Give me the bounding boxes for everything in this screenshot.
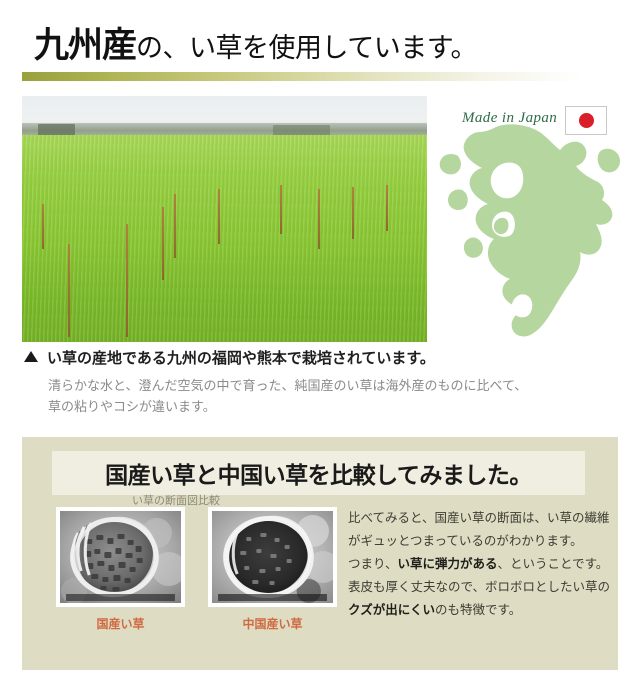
comparison-line-3: つまり、い草に弾力がある、ということです。 bbox=[348, 553, 610, 576]
field-pole bbox=[386, 185, 388, 232]
caption-heading-text: い草の産地である九州の福岡や熊本で栽培されています。 bbox=[47, 348, 435, 370]
micrograph-caption-chinese: 中国産い草 bbox=[208, 615, 337, 632]
made-in-japan-label: Made in Japan bbox=[462, 110, 557, 127]
page-title-rest: の、い草を使用しています。 bbox=[136, 33, 477, 63]
field-pole bbox=[174, 194, 176, 258]
cross-section-label: い草の断面図比較 bbox=[132, 492, 220, 508]
comparison-line-2: がギュッとつまっているのがわかります。 bbox=[348, 530, 610, 553]
comparison-line-1: 比べてみると、国産い草の断面は、い草の繊維 bbox=[348, 507, 610, 530]
field-pole bbox=[162, 207, 164, 281]
micrograph-domestic-image bbox=[60, 511, 181, 603]
japan-flag-icon bbox=[565, 106, 607, 135]
field-pole bbox=[42, 204, 44, 248]
igusa-field-photo bbox=[22, 96, 427, 342]
comparison-title: 国産い草と中国い草を比較してみました。 bbox=[52, 456, 585, 490]
page-title-emphasis: 九州産 bbox=[34, 26, 136, 65]
caption-heading-row: い草の産地である九州の福岡や熊本で栽培されています。 bbox=[24, 348, 544, 370]
comparison-title-band: 国産い草と中国い草を比較してみました。 bbox=[52, 451, 585, 495]
caption-body: 清らかな水と、澄んだ空気の中で育った、純国産のい草は海外産のものに比べて、 草の… bbox=[48, 375, 544, 417]
title-underline-bar bbox=[22, 72, 618, 81]
photo-grass-field bbox=[22, 135, 427, 342]
caption-body-line-2: 草の粘りやコシが違います。 bbox=[48, 396, 544, 417]
comparison-line-4: 表皮も厚く丈夫なので、ボロボロとしたい草の bbox=[348, 576, 610, 599]
kyushu-map-graphic bbox=[432, 120, 632, 350]
micrograph-chinese bbox=[208, 507, 337, 607]
page-title: 九州産の、い草を使用しています。 bbox=[34, 26, 477, 68]
field-pole bbox=[352, 187, 354, 239]
comparison-line-5: クズが出にくいのも特徴です。 bbox=[348, 599, 610, 622]
field-caption-block: い草の産地である九州の福岡や熊本で栽培されています。 清らかな水と、澄んだ空気の… bbox=[24, 348, 544, 417]
micrograph-domestic bbox=[56, 507, 185, 607]
flag-red-disc bbox=[579, 113, 594, 128]
comparison-description: 比べてみると、国産い草の断面は、い草の繊維 がギュッとつまっているのがわかります… bbox=[348, 507, 610, 622]
micrograph-chinese-image bbox=[212, 511, 333, 603]
field-pole bbox=[280, 185, 282, 234]
field-pole bbox=[68, 244, 70, 337]
caption-body-line-1: 清らかな水と、澄んだ空気の中で育った、純国産のい草は海外産のものに比べて、 bbox=[48, 375, 544, 396]
micrograph-caption-domestic: 国産い草 bbox=[56, 615, 185, 632]
comparison-panel: 国産い草と中国い草を比較してみました。 い草の断面図比較 bbox=[22, 437, 618, 670]
field-pole bbox=[126, 224, 128, 337]
triangle-bullet-icon bbox=[24, 351, 38, 362]
field-pole bbox=[218, 189, 220, 243]
field-pole bbox=[318, 189, 320, 248]
